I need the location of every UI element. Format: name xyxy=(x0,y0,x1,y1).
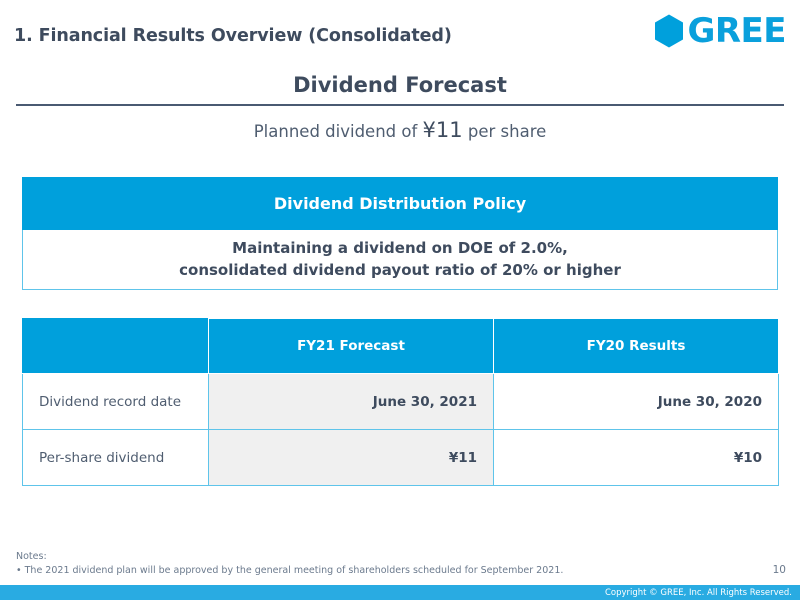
table-header-corner xyxy=(23,319,209,374)
notes-block: Notes: • The 2021 dividend plan will be … xyxy=(16,550,563,578)
cell-fy20-per-share: ¥10 xyxy=(494,430,779,486)
row-label-per-share-dividend: Per-share dividend xyxy=(23,430,209,486)
policy-heading: Dividend Distribution Policy xyxy=(22,177,778,230)
copyright-bar: Copyright © GREE, Inc. All Rights Reserv… xyxy=(0,585,800,600)
table-row: Dividend record date June 30, 2021 June … xyxy=(23,374,779,430)
policy-line-2: consolidated dividend payout ratio of 20… xyxy=(179,261,621,280)
title-divider xyxy=(16,104,784,106)
policy-body: Maintaining a dividend on DOE of 2.0%, c… xyxy=(22,230,778,290)
lead-statement: Planned dividend of ¥11 per share xyxy=(0,118,800,142)
hexagon-icon xyxy=(654,14,684,48)
dividend-table: FY21 Forecast FY20 Results Dividend reco… xyxy=(22,318,779,486)
lead-amount: ¥11 xyxy=(423,118,463,142)
cell-fy20-record-date: June 30, 2020 xyxy=(494,374,779,430)
page-title: 1. Financial Results Overview (Consolida… xyxy=(14,26,452,46)
row-label-dividend-record-date: Dividend record date xyxy=(23,374,209,430)
table-header-row: FY21 Forecast FY20 Results xyxy=(23,319,779,374)
notes-label: Notes: xyxy=(16,550,563,564)
note-item: • The 2021 dividend plan will be approve… xyxy=(16,564,563,578)
table-header-fy20: FY20 Results xyxy=(494,319,779,374)
cell-fy21-record-date: June 30, 2021 xyxy=(209,374,494,430)
cell-fy21-per-share: ¥11 xyxy=(209,430,494,486)
lead-prefix: Planned dividend of xyxy=(254,122,423,141)
lead-suffix: per share xyxy=(463,122,547,141)
page-number: 10 xyxy=(773,564,786,576)
brand-wordmark: GREE xyxy=(687,14,786,48)
slide-header: 1. Financial Results Overview (Consolida… xyxy=(0,0,800,68)
table-header-fy21: FY21 Forecast xyxy=(209,319,494,374)
slide-title: Dividend Forecast xyxy=(0,73,800,97)
table-row: Per-share dividend ¥11 ¥10 xyxy=(23,430,779,486)
dividend-policy-panel: Dividend Distribution Policy Maintaining… xyxy=(22,177,778,290)
policy-line-1: Maintaining a dividend on DOE of 2.0%, xyxy=(232,239,568,258)
copyright-text: Copyright © GREE, Inc. All Rights Reserv… xyxy=(605,586,792,600)
gree-logo: GREE xyxy=(654,14,786,48)
